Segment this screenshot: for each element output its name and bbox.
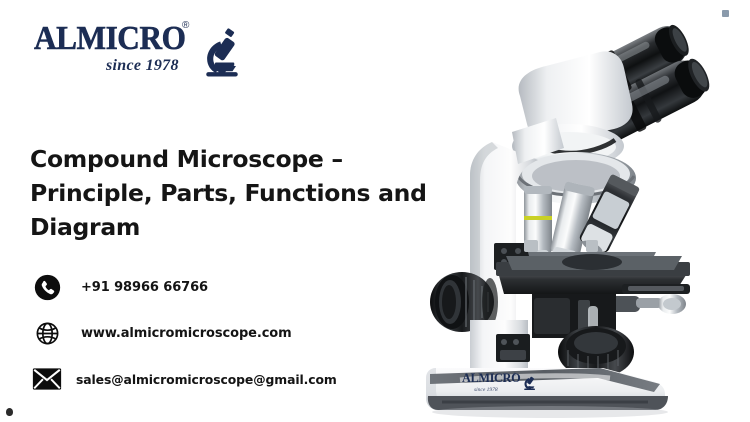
contact-list: +91 98966 66766 www.almicromicroscope.co…: [32, 264, 412, 402]
contact-row-phone[interactable]: +91 98966 66766: [32, 264, 412, 310]
microscope-icon: [194, 24, 250, 80]
email-address: sales@almicromicroscope@gmail.com: [76, 372, 337, 387]
decorative-dot-bottom-left: [6, 408, 13, 416]
phone-number: +91 98966 66766: [81, 280, 208, 295]
envelope-icon: [32, 364, 62, 394]
website-url: www.almicromicroscope.com: [81, 326, 292, 341]
registered-trademark-icon: ®: [182, 20, 189, 31]
brand-logo[interactable]: ALMICRO ® since 1978: [34, 16, 264, 86]
brand-wordmark: ALMICRO: [34, 22, 185, 56]
contact-row-website[interactable]: www.almicromicroscope.com: [32, 310, 412, 356]
page-title: Compound Microscope – Principle, Parts, …: [30, 142, 460, 244]
svg-text:ALMICRO: ALMICRO: [462, 371, 521, 385]
contact-row-email[interactable]: sales@almicromicroscope@gmail.com: [32, 356, 412, 402]
svg-text:since 1978: since 1978: [474, 387, 498, 393]
banner-canvas: ALMICRO ® since 1978 Compound Microscope…: [0, 0, 750, 422]
phone-icon: [32, 272, 62, 302]
brand-tagline: since 1978: [106, 57, 179, 75]
compound-microscope-photo: ALMICRO ® since 1978: [400, 0, 750, 422]
globe-icon: [32, 318, 62, 348]
